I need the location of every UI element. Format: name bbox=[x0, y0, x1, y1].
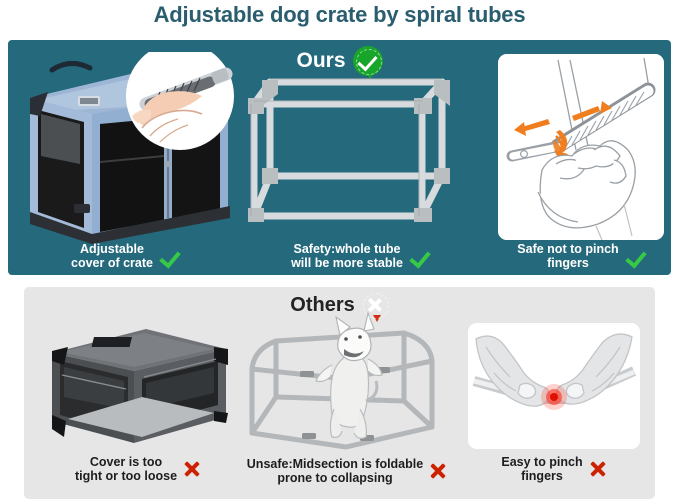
others-item-1-caption-text: Cover is too tight or too loose bbox=[75, 455, 177, 484]
ours-item-1-caption-text: Adjustable cover of crate bbox=[71, 242, 153, 271]
ours-item-2-caption-text: Safety:whole tube will be more stable bbox=[291, 242, 403, 271]
check-mark-icon bbox=[625, 247, 645, 265]
others-heading-group: Others bbox=[24, 289, 655, 321]
two-hands-pinched-by-tube-line-art bbox=[468, 323, 640, 449]
others-item-2-caption: Unsafe:Midsection is foldable prone to c… bbox=[222, 457, 472, 486]
badge-ring bbox=[363, 293, 389, 319]
x-mark-icon bbox=[429, 462, 447, 480]
others-item-3-image bbox=[468, 323, 640, 449]
ours-item-1-caption: Adjustable cover of crate bbox=[14, 242, 236, 271]
others-panel: Others bbox=[24, 287, 655, 499]
ours-item-2-caption: Safety:whole tube will be more stable bbox=[246, 242, 474, 271]
ours-item-2-image bbox=[246, 60, 474, 240]
page-title: Adjustable dog crate by spiral tubes bbox=[0, 2, 679, 28]
ours-item-3-caption-text: Safe not to pinch fingers bbox=[517, 242, 618, 271]
others-item-1-image bbox=[38, 321, 238, 451]
others-item-3-caption-text: Easy to pinch fingers bbox=[501, 455, 582, 484]
x-mark-icon bbox=[589, 460, 607, 478]
dark-gray-soft-crate-photo bbox=[38, 321, 238, 451]
hand-twisting-spiral-tube-line-art bbox=[498, 54, 664, 240]
ours-item-1-image bbox=[14, 52, 236, 244]
ours-item-3-image bbox=[498, 54, 664, 240]
blue-soft-dog-crate-photo bbox=[14, 52, 236, 244]
others-item-3-caption: Easy to pinch fingers bbox=[464, 455, 644, 484]
ours-item-3-caption: Safe not to pinch fingers bbox=[494, 242, 668, 271]
check-mark-icon bbox=[409, 247, 429, 265]
others-item-2-caption-text: Unsafe:Midsection is foldable prone to c… bbox=[247, 457, 423, 486]
others-heading-label: Others bbox=[290, 294, 354, 317]
x-mark-icon bbox=[183, 460, 201, 478]
red-x-badge-icon bbox=[361, 291, 389, 319]
infographic-root: Adjustable dog crate by spiral tubes Our… bbox=[0, 0, 679, 503]
gray-tube-frame-diagram bbox=[246, 60, 474, 240]
others-item-2-image bbox=[236, 305, 458, 455]
ours-panel: Ours bbox=[8, 40, 671, 275]
check-mark-icon bbox=[159, 247, 179, 265]
dog-leaning-on-collapsing-frame-illustration bbox=[236, 305, 458, 455]
others-item-1-caption: Cover is too tight or too loose bbox=[32, 455, 244, 484]
